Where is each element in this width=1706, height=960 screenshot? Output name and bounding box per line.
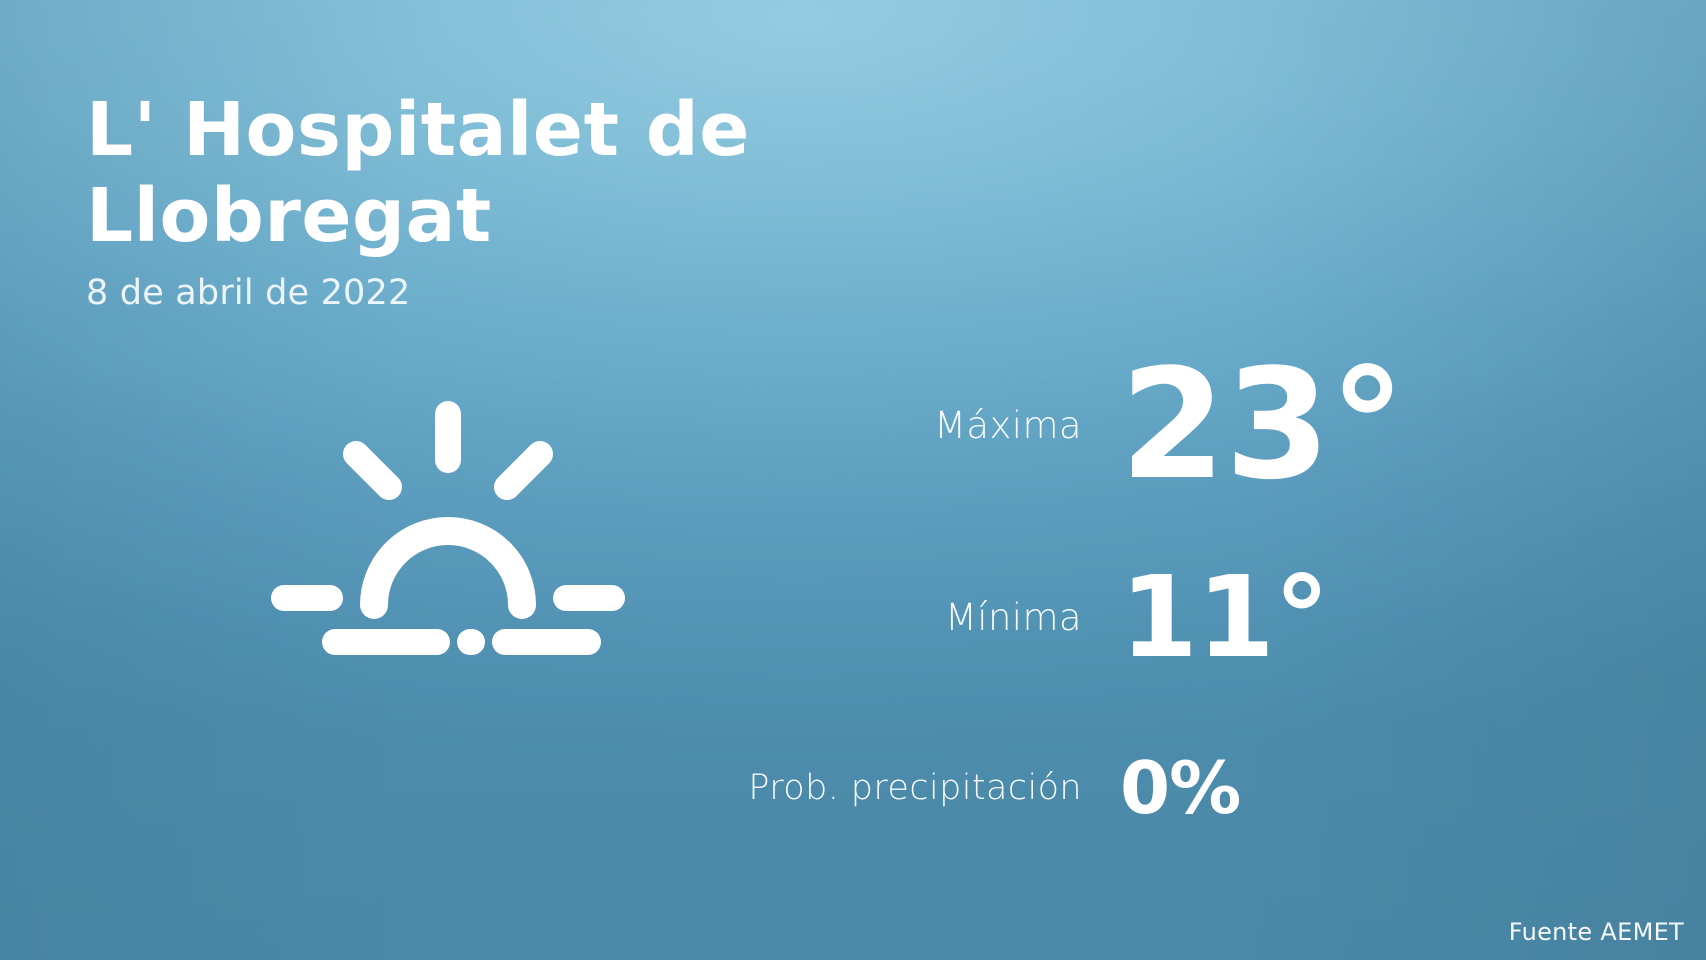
minima-value: 11° (1100, 562, 1329, 674)
sun-dome (374, 531, 522, 605)
row-maxima: Máxima 23° (560, 320, 1620, 530)
source-attribution: Fuente AEMET (1509, 918, 1684, 946)
row-minima: Mínima 11° (560, 530, 1620, 705)
row-precipitacion: Prob. precipitación 0% (560, 705, 1620, 870)
location-title: L' Hospitalet de Llobregat (86, 88, 1036, 260)
sun-ray-upper-left (356, 454, 389, 487)
maxima-value: 23° (1100, 349, 1405, 501)
forecast-date: 8 de abril de 2022 (86, 274, 1036, 313)
forecast-rows: Máxima 23° Mínima 11° Prob. precipitació… (560, 320, 1620, 870)
sun-ray-upper-right (507, 454, 540, 487)
header: L' Hospitalet de Llobregat 8 de abril de… (86, 88, 1036, 312)
maxima-label: Máxima (560, 404, 1100, 447)
weather-card: L' Hospitalet de Llobregat 8 de abril de… (0, 0, 1706, 960)
precipitacion-label: Prob. precipitación (560, 768, 1100, 808)
minima-label: Mínima (560, 596, 1100, 639)
precipitacion-value: 0% (1100, 752, 1240, 824)
